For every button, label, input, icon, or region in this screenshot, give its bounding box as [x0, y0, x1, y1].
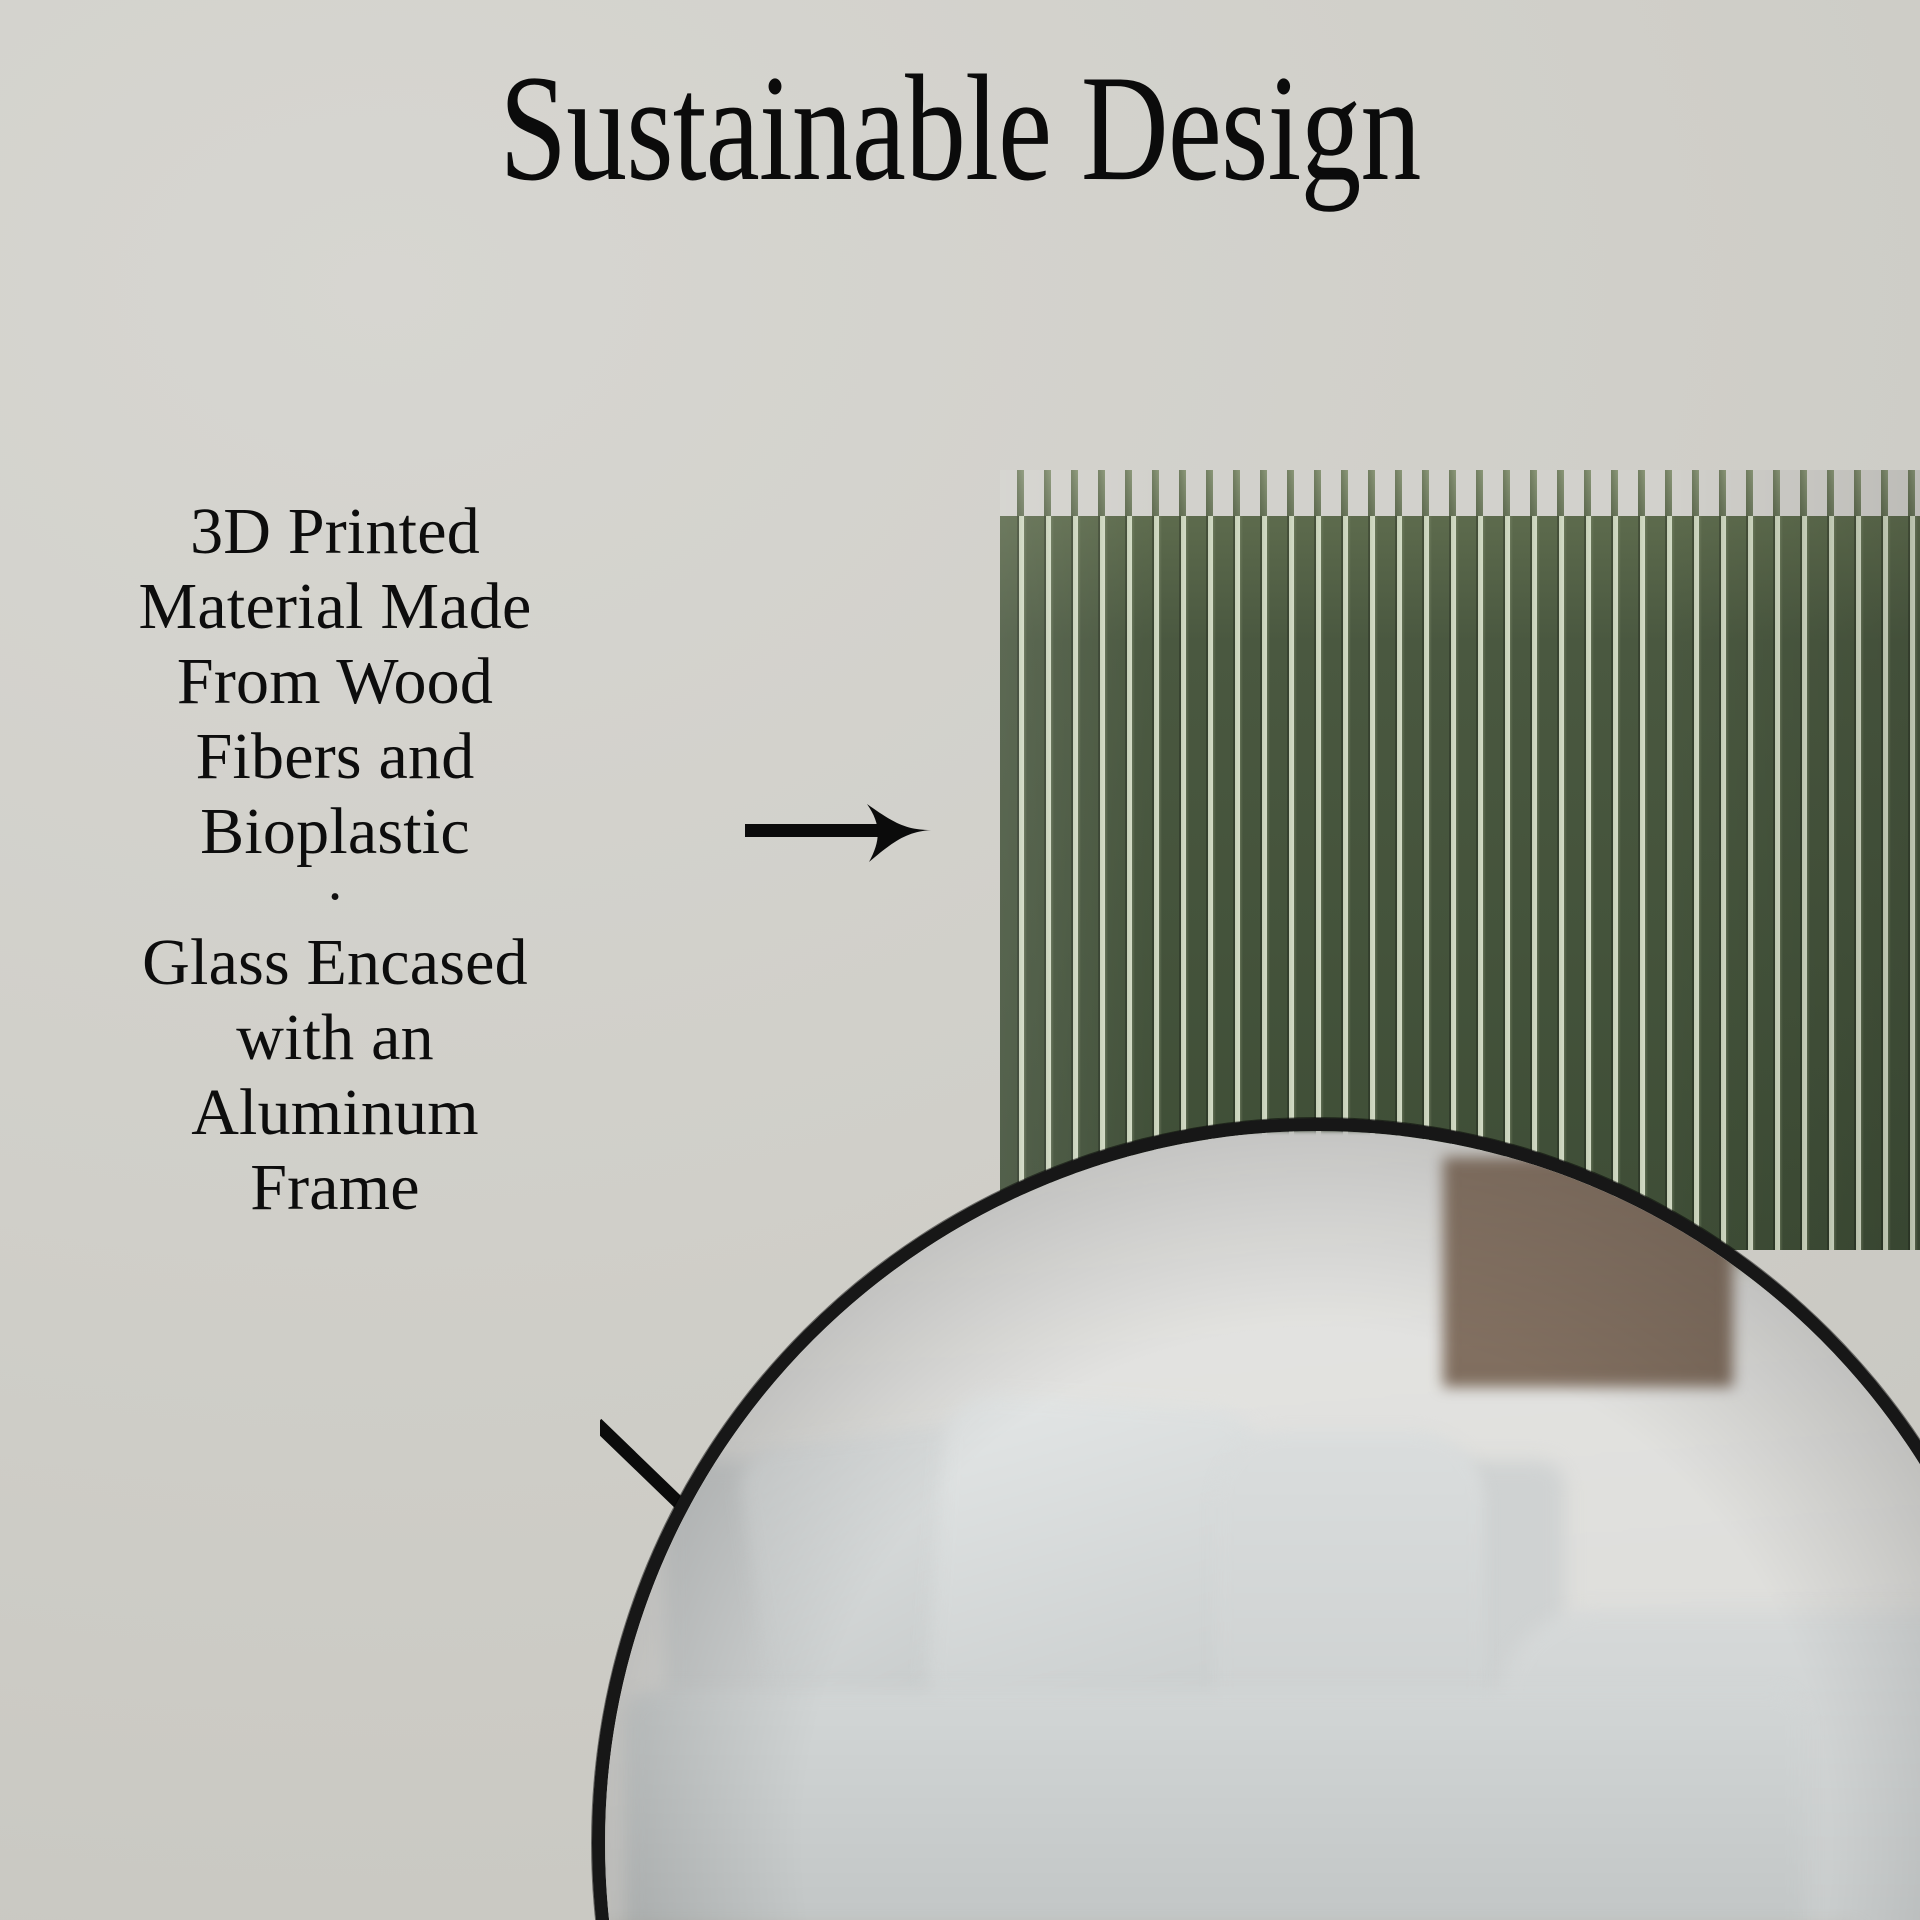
- feature-one-line-3: From Wood: [30, 644, 640, 719]
- feature-two-text: Glass Encased with an Aluminum Frame: [30, 925, 640, 1225]
- feature-one-line-5: Bioplastic: [30, 794, 640, 869]
- arrow-right-icon: [745, 778, 955, 888]
- feature-two-line-4: Frame: [30, 1150, 640, 1225]
- poster-canvas: Sustainable Design 3D Printed Material M…: [0, 0, 1920, 1920]
- annotation-column: 3D Printed Material Made From Wood Fiber…: [30, 494, 640, 1225]
- feature-one-line-2: Material Made: [30, 569, 640, 644]
- page-title: Sustainable Design: [192, 52, 1728, 204]
- bullet-separator: ·: [30, 869, 640, 925]
- feature-two-line-2: with an: [30, 1000, 640, 1075]
- feature-one-line-1: 3D Printed: [30, 494, 640, 569]
- feature-two-line-3: Aluminum: [30, 1075, 640, 1150]
- feature-one-line-4: Fibers and: [30, 719, 640, 794]
- feature-one-text: 3D Printed Material Made From Wood Fiber…: [30, 494, 640, 869]
- round-mirror: [592, 1118, 1920, 1920]
- feature-two-line-1: Glass Encased: [30, 925, 640, 1000]
